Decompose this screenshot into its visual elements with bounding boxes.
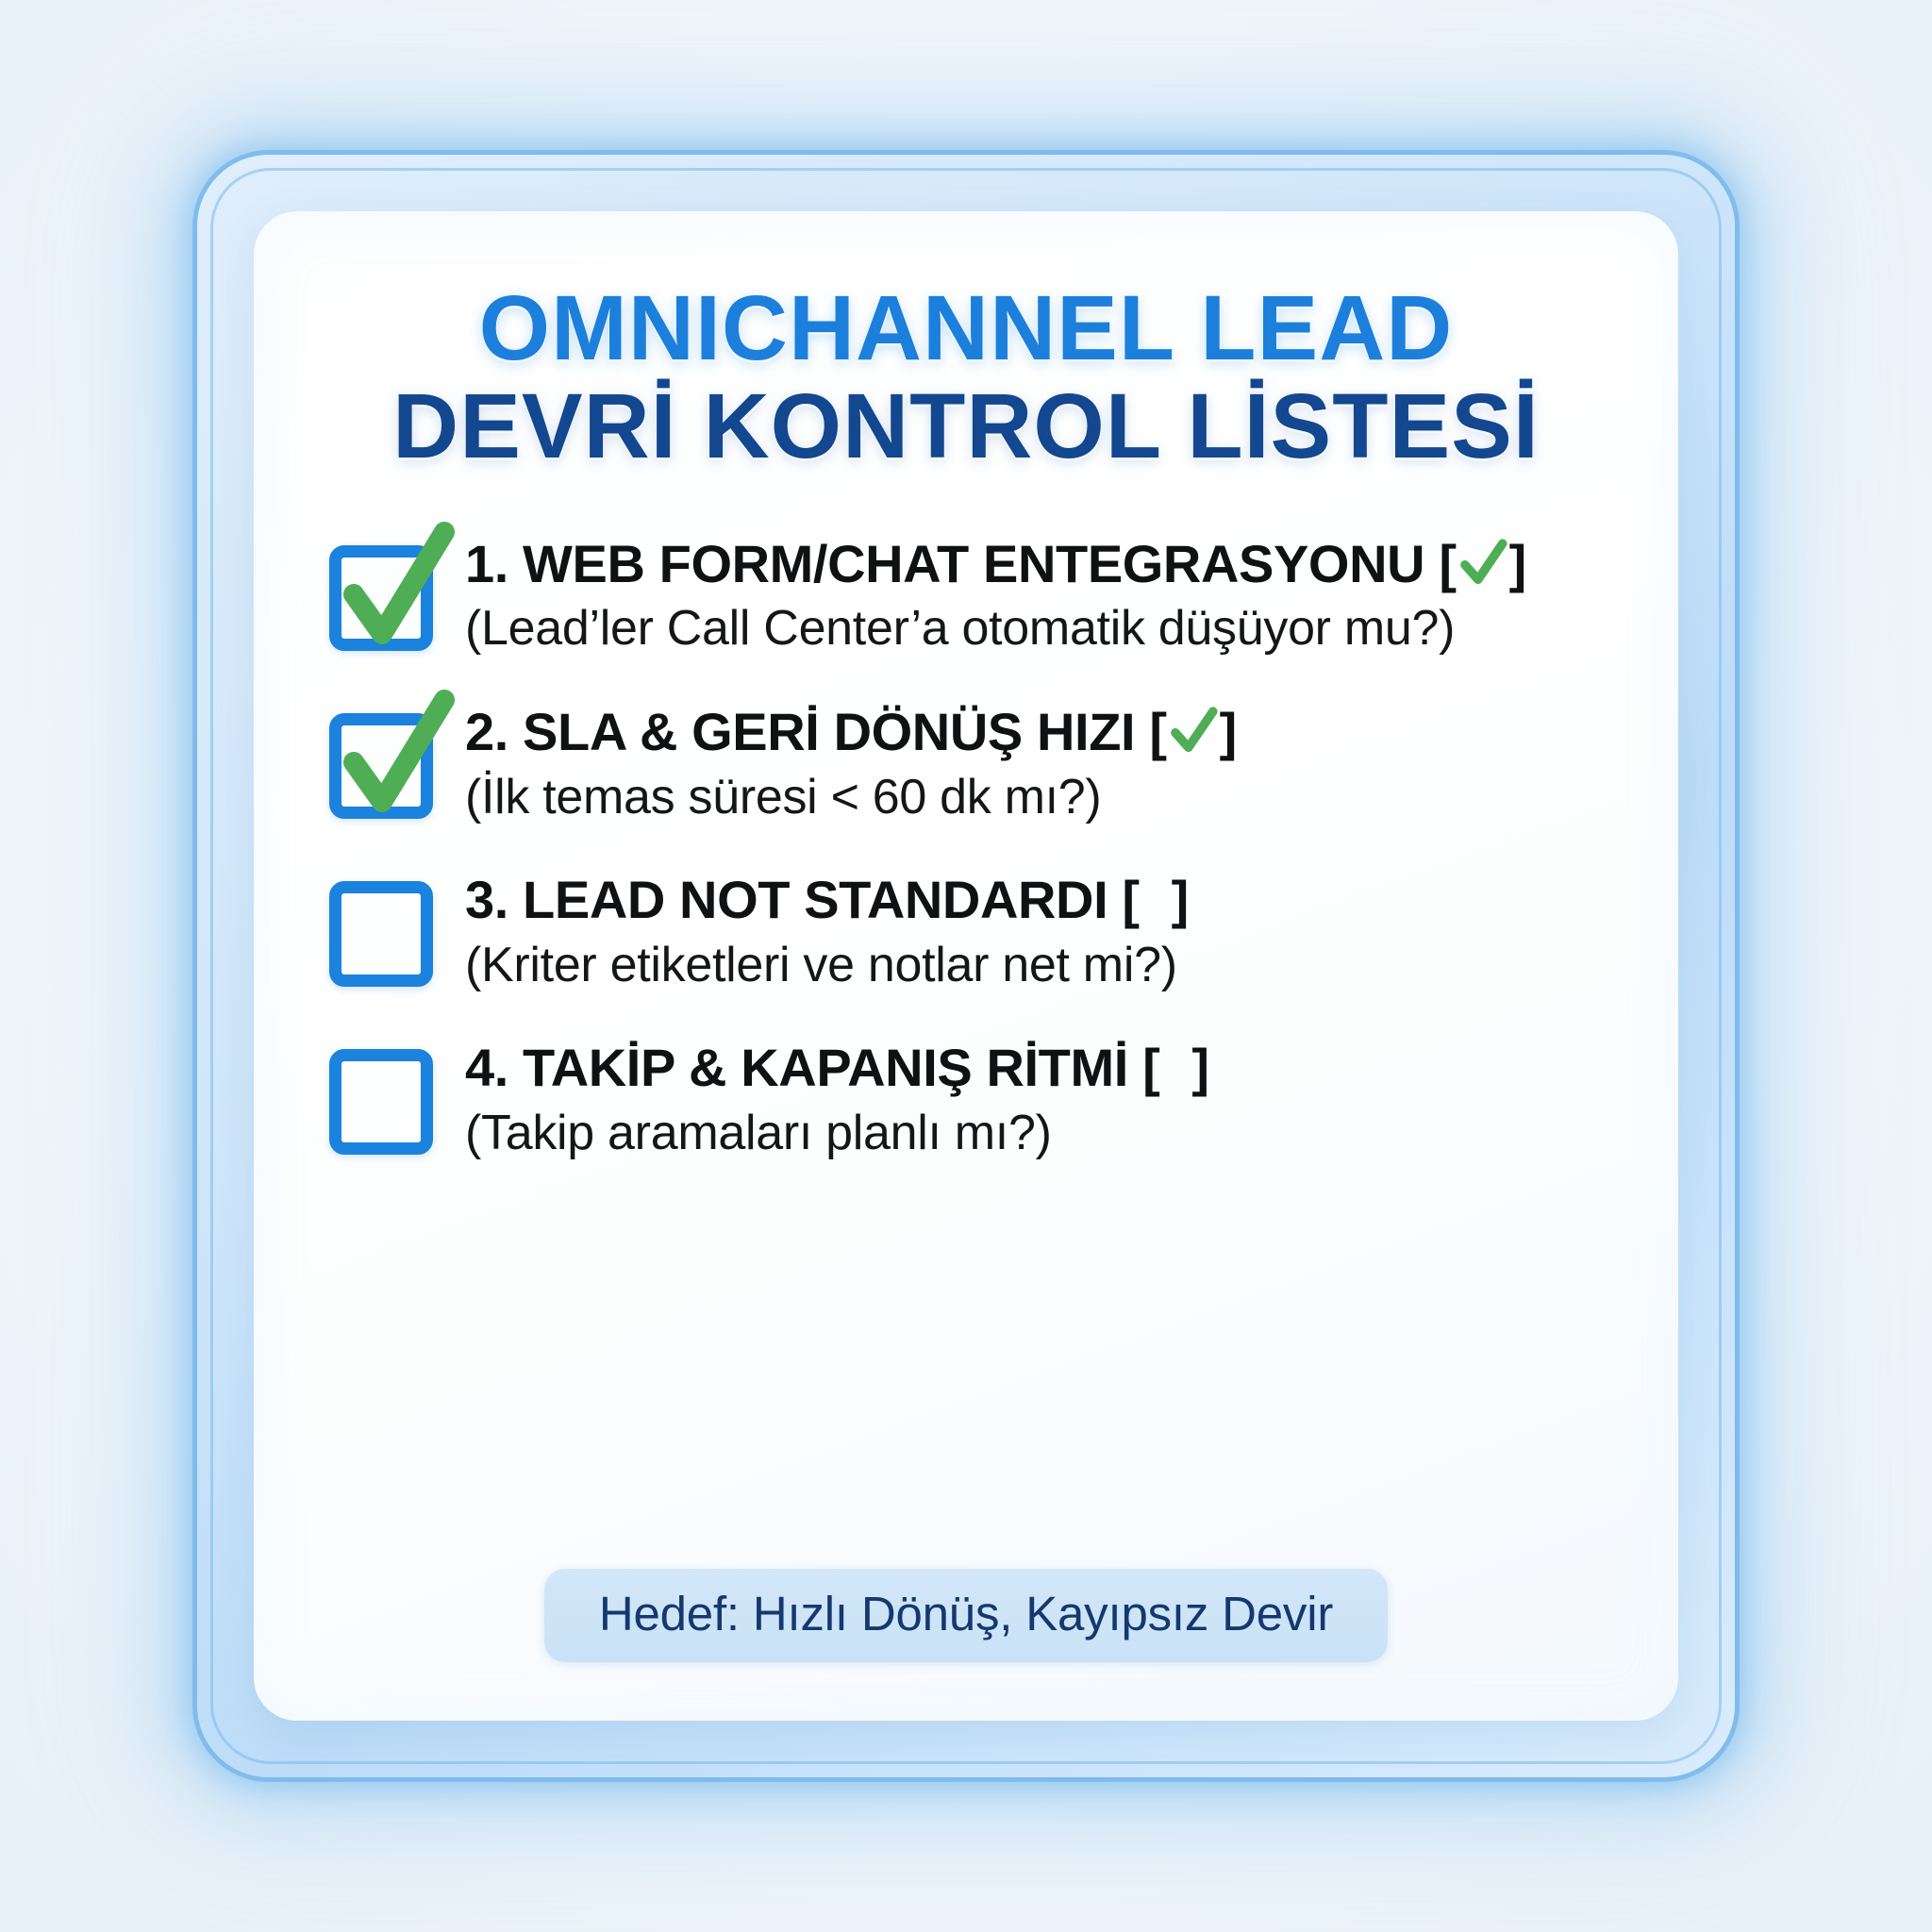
bracket-open-4: [ xyxy=(1142,1038,1159,1097)
checklist-item-4-text: 4. TAKİP & KAPANIŞ RİTMİ [] (Takip arama… xyxy=(465,1036,1620,1162)
outer-glow-frame: OMNICHANNEL LEAD DEVRİ KONTROL LİSTESİ 1… xyxy=(197,155,1735,1777)
checklist-item-2-text: 2. SLA & GERİ DÖNÜŞ HIZI [] (İlk temas s… xyxy=(465,700,1620,826)
title-line-2: DEVRİ KONTROL LİSTESİ xyxy=(303,376,1629,477)
check-mark-icon xyxy=(333,692,458,824)
goal-badge: Hedef: Hızlı Dönüş, Kayıpsız Devir xyxy=(544,1569,1388,1662)
checkbox-box-icon xyxy=(329,881,433,987)
bracket-close-1: ] xyxy=(1509,534,1526,593)
checklist-item-1-text: 1. WEB FORM/CHAT ENTEGRASYONU [] (Lead’l… xyxy=(465,532,1620,658)
checklist-item-1[interactable]: 1. WEB FORM/CHAT ENTEGRASYONU [] (Lead’l… xyxy=(329,532,1620,658)
checkbox-box-icon xyxy=(329,1049,433,1155)
title-line-1: OMNICHANNEL LEAD xyxy=(303,281,1629,376)
bracket-open-2: [ xyxy=(1149,702,1166,761)
checkbox-3[interactable] xyxy=(329,881,433,987)
bracket-close-3: ] xyxy=(1172,870,1189,929)
checklist-item-3-title-text: 3. LEAD NOT STANDARDI xyxy=(465,870,1108,929)
footer: Hedef: Hızlı Dönüş, Kayıpsız Devir xyxy=(303,1569,1629,1662)
bracket-close-4: ] xyxy=(1191,1038,1208,1097)
bracket-check-icon-2 xyxy=(1169,707,1218,756)
checklist-item-1-subtitle: (Lead’ler Call Center’a otomatik düşüyor… xyxy=(465,599,1620,658)
checkbox-2[interactable] xyxy=(329,713,433,819)
checklist-item-2-title: 2. SLA & GERİ DÖNÜŞ HIZI [] xyxy=(465,702,1620,762)
checklist-item-1-title: 1. WEB FORM/CHAT ENTEGRASYONU [] xyxy=(465,534,1620,594)
bracket-check-icon-1 xyxy=(1458,539,1507,588)
bracket-open-1: [ xyxy=(1439,534,1456,593)
checklist-item-2-title-text: 2. SLA & GERİ DÖNÜŞ HIZI xyxy=(465,702,1135,761)
checkbox-1[interactable] xyxy=(329,545,433,651)
checklist-item-4[interactable]: 4. TAKİP & KAPANIŞ RİTMİ [] (Takip arama… xyxy=(329,1036,1620,1162)
checklist-item-3-title: 3. LEAD NOT STANDARDI [] xyxy=(465,870,1620,930)
checklist-item-3[interactable]: 3. LEAD NOT STANDARDI [] (Kriter etiketl… xyxy=(329,868,1620,994)
checklist-item-3-text: 3. LEAD NOT STANDARDI [] (Kriter etiketl… xyxy=(465,868,1620,994)
checklist-item-4-title: 4. TAKİP & KAPANIŞ RİTMİ [] xyxy=(465,1038,1620,1098)
checklist-item-4-title-text: 4. TAKİP & KAPANIŞ RİTMİ xyxy=(465,1038,1128,1097)
check-mark-icon xyxy=(333,525,458,657)
bracket-open-3: [ xyxy=(1122,870,1139,929)
checklist: 1. WEB FORM/CHAT ENTEGRASYONU [] (Lead’l… xyxy=(303,532,1629,1535)
checklist-item-1-title-text: 1. WEB FORM/CHAT ENTEGRASYONU xyxy=(465,534,1424,593)
checklist-card: OMNICHANNEL LEAD DEVRİ KONTROL LİSTESİ 1… xyxy=(254,211,1678,1721)
checklist-item-3-subtitle: (Kriter etiketleri ve notlar net mi?) xyxy=(465,936,1620,994)
bracket-close-2: ] xyxy=(1220,702,1237,761)
checklist-item-4-subtitle: (Takip aramaları planlı mı?) xyxy=(465,1104,1620,1162)
checklist-item-2[interactable]: 2. SLA & GERİ DÖNÜŞ HIZI [] (İlk temas s… xyxy=(329,700,1620,826)
checkbox-4[interactable] xyxy=(329,1049,433,1155)
page-title: OMNICHANNEL LEAD DEVRİ KONTROL LİSTESİ xyxy=(303,281,1629,477)
checklist-item-2-subtitle: (İlk temas süresi < 60 dk mı?) xyxy=(465,768,1620,826)
